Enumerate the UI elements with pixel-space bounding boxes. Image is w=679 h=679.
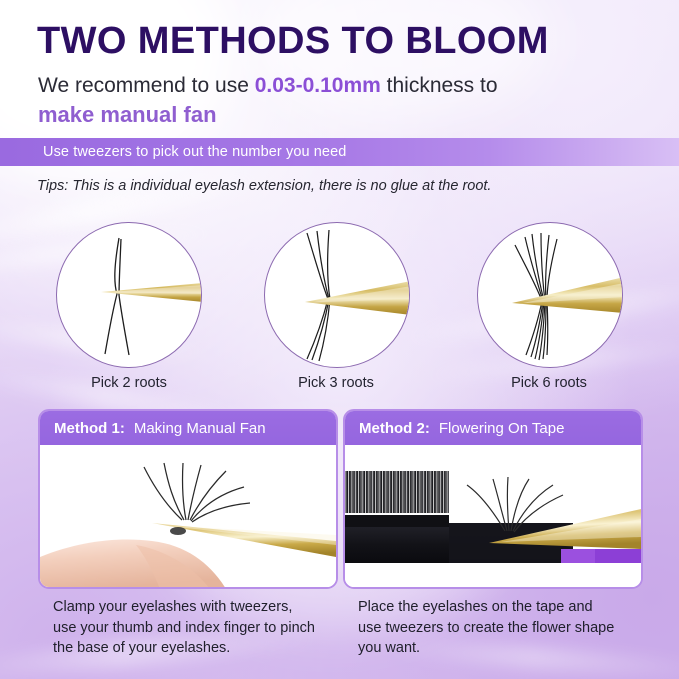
pick-roots-item bbox=[56, 222, 202, 368]
method-2-label: Method 2: bbox=[359, 420, 430, 437]
method-2-caption-line: Place the eyelashes on the tape and bbox=[358, 597, 658, 618]
tweezer-lash-icon bbox=[478, 223, 623, 368]
lash-strip-on-tape-photo bbox=[345, 445, 641, 589]
pick-3-roots-caption: Pick 3 roots bbox=[236, 375, 436, 391]
method-2-caption: Place the eyelashes on the tape and use … bbox=[358, 597, 658, 659]
instruction-banner: Use tweezers to pick out the number you … bbox=[0, 138, 679, 166]
method-2-name: Flowering On Tape bbox=[439, 420, 565, 437]
recommendation-suffix: thickness to bbox=[381, 74, 498, 97]
pick-roots-item bbox=[477, 222, 623, 368]
pick-3-roots-circle bbox=[264, 222, 410, 368]
method-2-photo bbox=[345, 445, 641, 589]
pick-2-roots-caption: Pick 2 roots bbox=[29, 375, 229, 391]
pick-6-roots-caption: Pick 6 roots bbox=[449, 375, 649, 391]
method-1-panel: Method 1: Making Manual Fan bbox=[38, 409, 338, 589]
method-1-caption-line: Clamp your eyelashes with tweezers, bbox=[53, 597, 353, 618]
recommendation-prefix: We recommend to use bbox=[38, 74, 255, 97]
recommendation-line-2: make manual fan bbox=[38, 99, 217, 132]
pick-6-roots-circle bbox=[477, 222, 623, 368]
tweezer-lash-icon bbox=[265, 223, 410, 368]
method-2-caption-line: use tweezers to create the flower shape bbox=[358, 618, 658, 639]
page-title: TWO METHODS TO BLOOM bbox=[37, 22, 549, 62]
method-1-caption: Clamp your eyelashes with tweezers, use … bbox=[53, 597, 353, 659]
method-2-panel: Method 2: Flowering On Tape bbox=[343, 409, 643, 589]
thickness-value: 0.03-0.10mm bbox=[255, 74, 381, 97]
method-1-photo bbox=[40, 445, 336, 589]
instruction-banner-text: Use tweezers to pick out the number you … bbox=[43, 144, 346, 160]
hand-pinching-fan-photo bbox=[40, 445, 336, 589]
method-2-caption-line: you want. bbox=[358, 638, 658, 659]
recommendation-line: We recommend to use 0.03-0.10mm thicknes… bbox=[38, 70, 498, 101]
method-1-caption-line: the base of your eyelashes. bbox=[53, 638, 353, 659]
method-1-name: Making Manual Fan bbox=[134, 420, 266, 437]
pick-2-roots-circle bbox=[56, 222, 202, 368]
pick-roots-item bbox=[264, 222, 410, 368]
tips-note: Tips: This is a individual eyelash exten… bbox=[37, 178, 491, 194]
method-1-header: Method 1: Making Manual Fan bbox=[40, 411, 336, 445]
method-2-header: Method 2: Flowering On Tape bbox=[345, 411, 641, 445]
pick-roots-row: Pick 2 roots Pick 3 roots Pick 6 roots bbox=[0, 215, 679, 390]
method-1-label: Method 1: bbox=[54, 420, 125, 437]
method-1-caption-line: use your thumb and index finger to pinch bbox=[53, 618, 353, 639]
tweezer-lash-icon bbox=[57, 223, 202, 368]
